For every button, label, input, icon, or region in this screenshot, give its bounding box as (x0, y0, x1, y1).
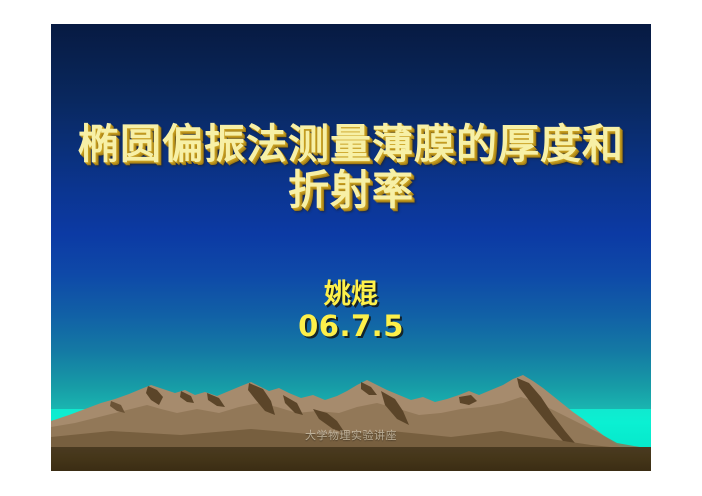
presentation-page: 椭圆偏振法测量薄膜的厚度和 折射率 姚焜 06.7.5 大学物理实验讲座 (0, 0, 702, 496)
presentation-date: 06.7.5 (51, 309, 651, 343)
author-name: 姚焜 (51, 272, 651, 311)
slide-canvas: 椭圆偏振法测量薄膜的厚度和 折射率 姚焜 06.7.5 大学物理实验讲座 (51, 24, 651, 471)
slide-footer-text: 大学物理实验讲座 (51, 427, 651, 443)
ground-strip (51, 447, 651, 471)
